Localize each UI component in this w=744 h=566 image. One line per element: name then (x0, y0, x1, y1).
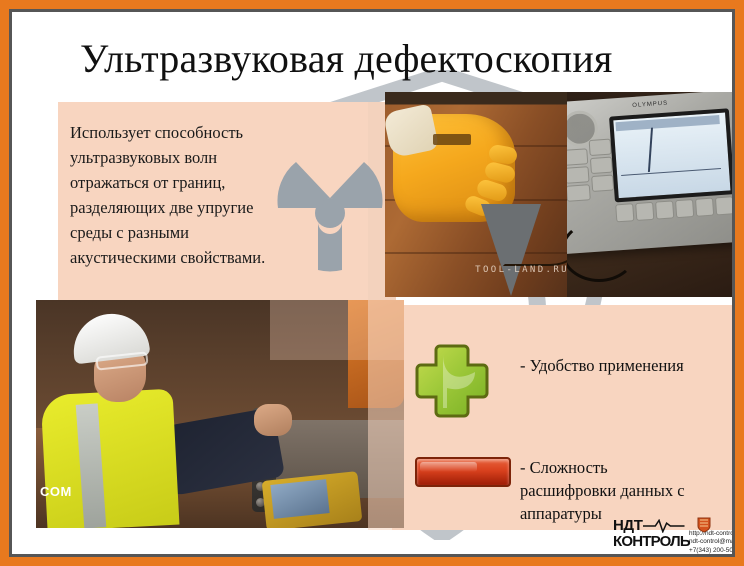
page-title: Ультразвуковая дефектоскопия (80, 36, 613, 82)
crest-icon (697, 517, 711, 533)
detector-screen (609, 108, 732, 202)
plus-icon (413, 342, 491, 420)
advantage-text: - Удобство применения (520, 354, 732, 377)
photo-probe-on-wood: TOOL-LAND.RU (385, 92, 575, 297)
slide-frame: TOOL-LAND.RU OLYMPUS (0, 0, 744, 566)
logo-phone: +7(343) 200-50-22 (689, 547, 732, 554)
disadvantage-line-1: - Сложность (520, 456, 720, 479)
hi-vis-vest (41, 389, 180, 528)
vest-logo-text: COM (40, 484, 72, 499)
intro-line-6: акустическими свойствами. (70, 245, 370, 270)
disadvantage-line-2: расшифровки данных с (520, 479, 720, 502)
disadvantage-text: - Сложность расшифровки данных с аппарат… (520, 456, 720, 525)
slide-canvas: TOOL-LAND.RU OLYMPUS (12, 12, 732, 554)
minus-icon (415, 457, 511, 487)
photo-source-watermark: TOOL-LAND.RU (475, 265, 569, 275)
intro-line-2: ультразвуковых волн (70, 145, 370, 170)
brand-label: OLYMPUS (632, 101, 668, 109)
intro-paragraph: Использует способность ультразвуковых во… (70, 120, 370, 270)
logo-wordmark: НДТ КОНТРОЛЬ (613, 518, 685, 550)
logo-line-2: КОНТРОЛЬ (613, 534, 685, 550)
intro-line-3: отражаться от границ, (70, 170, 370, 195)
ndt-control-logo: НДТ КОНТРОЛЬ http://ndt-control.ru ndt-c… (613, 518, 732, 554)
photo-inspector-at-pipe: COM (36, 300, 404, 528)
intro-line-1: Использует способность (70, 120, 370, 145)
logo-line-1-row: НДТ (613, 518, 685, 533)
logo-email: ndt-control@mail.ru (689, 538, 732, 546)
slide-inner-border: TOOL-LAND.RU OLYMPUS (9, 9, 735, 557)
photo-flaw-detector: OLYMPUS (567, 92, 732, 297)
logo-line-1: НДТ (613, 518, 642, 533)
intro-line-4: разделяющих две упругие (70, 195, 370, 220)
logo-contact-info: http://ndt-control.ru ndt-control@mail.r… (689, 530, 732, 554)
waveform-icon (643, 519, 685, 533)
intro-line-5: среды с разными (70, 220, 370, 245)
